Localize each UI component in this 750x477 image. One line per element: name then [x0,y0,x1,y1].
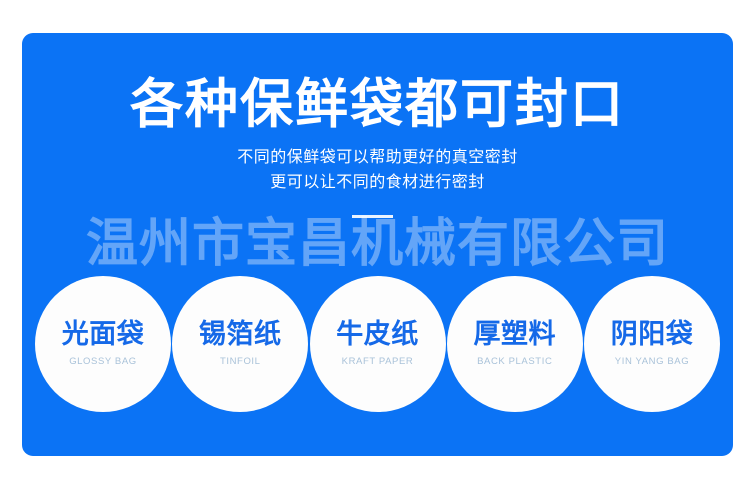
badge-label-cn: 光面袋 [62,320,145,350]
badge-circle-glossy-bag: 光面袋 GLOSSY BAG [35,276,171,412]
badge-circle-kraft-paper: 牛皮纸 KRAFT PAPER [310,276,446,412]
badge-label-en: GLOSSY BAG [69,356,137,367]
badge-label-cn: 厚塑料 [474,320,557,350]
blue-panel: 各种保鲜袋都可封口 不同的保鲜袋可以帮助更好的真空密封 更可以让不同的食材进行密… [22,33,733,456]
company-watermark: 温州市宝昌机械有限公司 [22,218,733,270]
subheadline-line-2: 更可以让不同的食材进行密封 [22,171,733,196]
badge-label-cn: 牛皮纸 [336,320,419,350]
badge-label-en: TINFOIL [220,356,261,367]
subheadline: 不同的保鲜袋可以帮助更好的真空密封 更可以让不同的食材进行密封 [22,146,733,196]
badge-label-en: YIN YANG BAG [615,356,689,367]
subheadline-line-1: 不同的保鲜袋可以帮助更好的真空密封 [22,146,733,171]
promo-banner: 各种保鲜袋都可封口 不同的保鲜袋可以帮助更好的真空密封 更可以让不同的食材进行密… [0,0,750,477]
headline: 各种保鲜袋都可封口 [22,77,733,133]
dash-artifact [352,215,393,218]
badge-label-en: BACK PLASTIC [477,356,552,367]
badge-circle-yin-yang-bag: 阴阳袋 YIN YANG BAG [584,276,720,412]
badge-circle-tinfoil: 锡箔纸 TINFOIL [172,276,308,412]
badge-circle-back-plastic: 厚塑料 BACK PLASTIC [447,276,583,412]
badge-label-cn: 锡箔纸 [199,320,282,350]
badge-label-en: KRAFT PAPER [342,356,414,367]
badge-row: 光面袋 GLOSSY BAG 锡箔纸 TINFOIL 牛皮纸 KRAFT PAP… [35,275,720,412]
badge-label-cn: 阴阳袋 [611,320,694,350]
